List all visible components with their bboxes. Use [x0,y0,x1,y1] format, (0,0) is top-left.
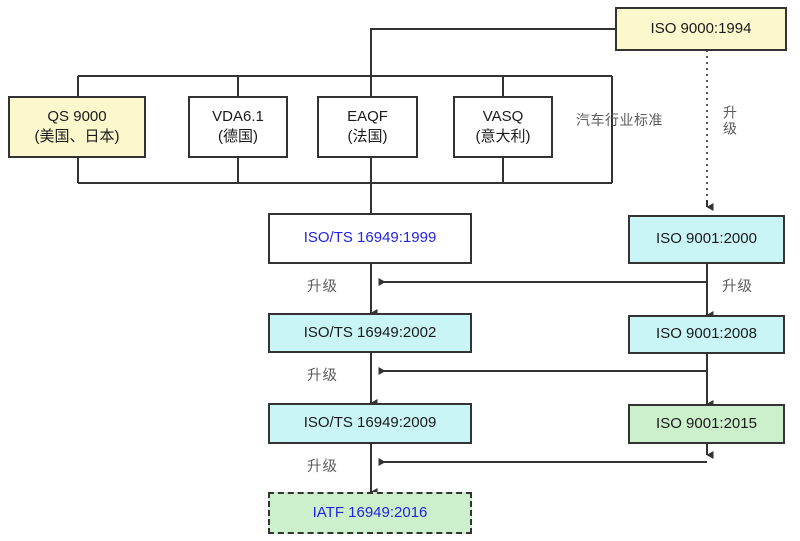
edge-label-upgrade-ts2002-ts2009: 升级 [307,364,338,385]
node-label: ISO/TS 16949:2009 [304,413,437,433]
node-label: ISO 9001:2015 [656,414,757,434]
node-iso-9001-2008[interactable]: ISO 9001:2008 [628,315,785,354]
edge-label-upgrade-ts2009-iatf2016: 升级 [307,455,338,476]
node-label-line1: VDA6.1 [212,107,264,127]
node-vda-6-1[interactable]: VDA6.1 (德国) [188,96,288,158]
node-qs-9000[interactable]: QS 9000 (美国、日本) [8,96,146,158]
standards-evolution-diagram: ISO 9000:1994 QS 9000 (美国、日本) VDA6.1 (德国… [0,0,800,541]
node-label-line2: (德国) [218,127,258,147]
node-label: ISO/TS 16949:1999 [304,228,437,248]
node-iso-ts-16949-1999[interactable]: ISO/TS 16949:1999 [268,213,472,264]
node-label-line1: EAQF [347,107,388,127]
node-eaqf[interactable]: EAQF (法国) [317,96,418,158]
node-label-line1: QS 9000 [47,107,106,127]
wire-iso9000-to-automotive-trunk [371,29,615,76]
caption-upgrade-iso9000-to-iso9001: 升级 [723,105,737,137]
node-label-line2: (法国) [348,127,388,147]
node-label: IATF 16949:2016 [313,503,428,523]
edge-label-upgrade-iso2000-iso2008: 升级 [722,275,753,296]
node-iso-9000-1994[interactable]: ISO 9000:1994 [615,7,787,51]
node-label: ISO/TS 16949:2002 [304,323,437,343]
node-label-line2: (美国、日本) [35,127,120,147]
node-iso-9001-2015[interactable]: ISO 9001:2015 [628,404,785,444]
node-label-line1: VASQ [483,107,524,127]
connector-layer [0,0,800,541]
node-iso-9001-2000[interactable]: ISO 9001:2000 [628,215,785,264]
node-label: ISO 9001:2008 [656,324,757,344]
node-vasq[interactable]: VASQ (意大利) [453,96,553,158]
node-iso-ts-16949-2009[interactable]: ISO/TS 16949:2009 [268,403,472,444]
node-iso-ts-16949-2002[interactable]: ISO/TS 16949:2002 [268,313,472,353]
node-iatf-16949-2016[interactable]: IATF 16949:2016 [268,492,472,534]
node-label-line2: (意大利) [476,127,531,147]
edge-label-upgrade-ts1999-ts2002: 升级 [307,275,338,296]
node-label: ISO 9000:1994 [651,19,752,39]
caption-automotive-industry-standards: 汽车行业标准 [576,110,663,130]
node-label: ISO 9001:2000 [656,229,757,249]
